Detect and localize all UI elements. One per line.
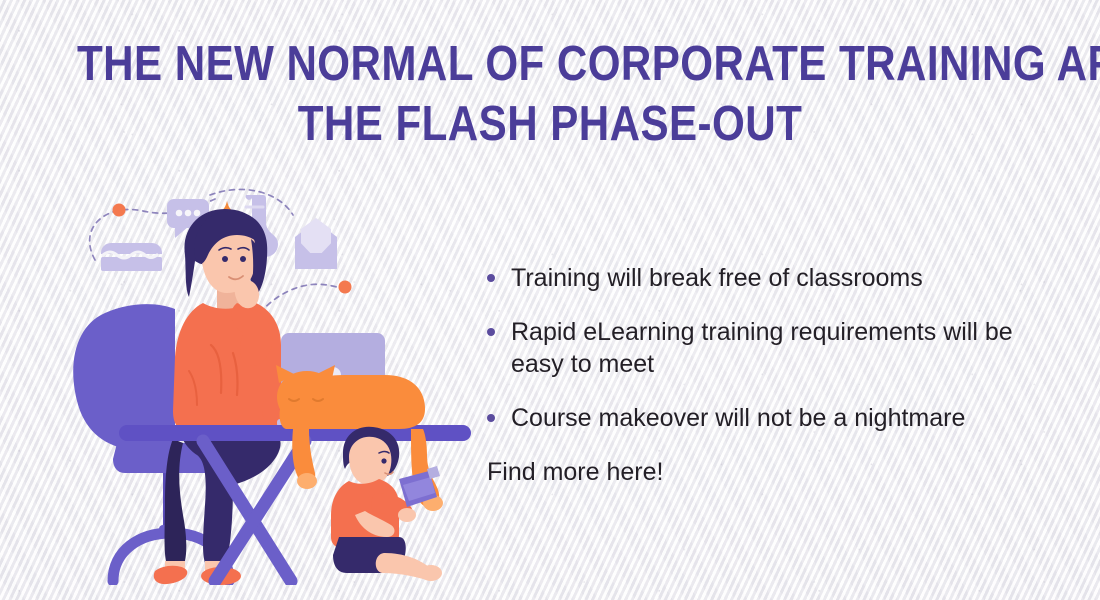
bullet-text: Course makeover will not be a nightmare xyxy=(511,402,965,434)
infographic-poster: THE NEW NORMAL OF CORPORATE TRAINING AFT… xyxy=(0,0,1100,600)
list-item: Rapid eLearning training requirements wi… xyxy=(487,316,1047,380)
dot-orange-left-icon xyxy=(113,204,126,217)
dot-orange-right-icon xyxy=(339,281,352,294)
bullet-dot-icon xyxy=(487,414,495,422)
illustration-work-from-home xyxy=(55,185,485,585)
envelope-icon xyxy=(295,218,337,269)
list-item: Course makeover will not be a nightmare xyxy=(487,402,1047,434)
title-line-2: THE FLASH PHASE-OUT xyxy=(77,94,1023,154)
page-title: THE NEW NORMAL OF CORPORATE TRAINING AFT… xyxy=(0,34,1100,154)
bullet-text: Training will break free of classrooms xyxy=(511,262,923,294)
bullet-text: Rapid eLearning training requirements wi… xyxy=(511,316,1047,380)
list-item: Training will break free of classrooms xyxy=(487,262,1047,294)
cta-label[interactable]: Find more here! xyxy=(487,456,1047,488)
bullet-list: Training will break free of classrooms R… xyxy=(487,262,1047,488)
burger-icon xyxy=(101,243,162,271)
dashed-path-right-icon xyxy=(260,284,345,313)
bullet-dot-icon xyxy=(487,274,495,282)
bullet-dot-icon xyxy=(487,328,495,336)
title-line-1: THE NEW NORMAL OF CORPORATE TRAINING AFT… xyxy=(77,34,1023,94)
